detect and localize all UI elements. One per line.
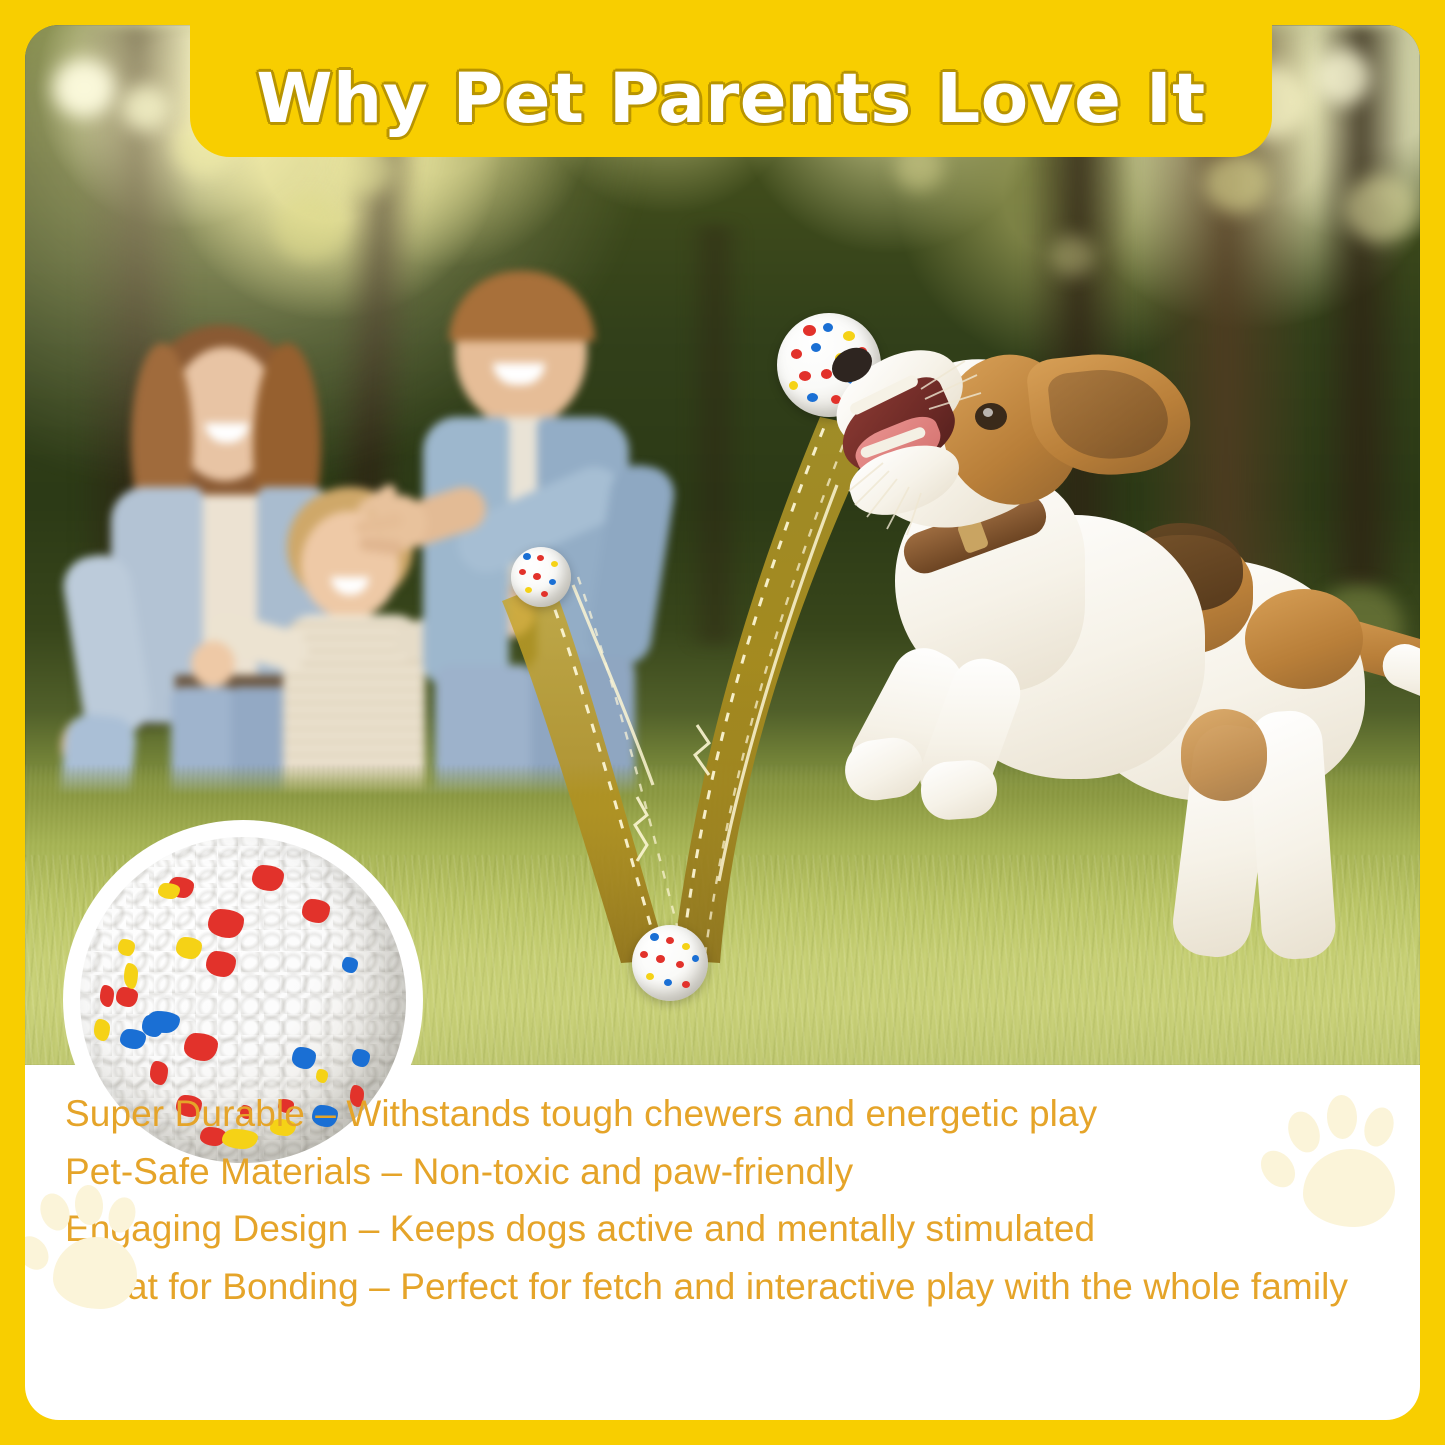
ball-in-air-mid bbox=[511, 547, 571, 607]
whiskers bbox=[825, 345, 1085, 565]
benefit-item: Super Durable – Withstands tough chewers… bbox=[65, 1085, 1382, 1143]
paw-print-watermark-left bbox=[25, 1189, 163, 1339]
jumping-dog bbox=[825, 325, 1420, 1065]
benefit-item: Engaging Design – Keeps dogs active and … bbox=[65, 1200, 1382, 1258]
benefit-item: Pet-Safe Materials – Non-toxic and paw-f… bbox=[65, 1143, 1382, 1201]
header-banner: Why Pet Parents Love It bbox=[190, 25, 1272, 157]
benefit-item: Great for Bonding – Perfect for fetch an… bbox=[65, 1258, 1382, 1316]
ball-bouncing-on-grass bbox=[632, 925, 708, 1001]
content-card: Why Pet Parents Love It Super Durable – … bbox=[25, 25, 1420, 1420]
outer-yellow-frame: Why Pet Parents Love It Super Durable – … bbox=[0, 0, 1445, 1445]
benefits-list: Super Durable – Withstands tough chewers… bbox=[25, 1085, 1420, 1315]
page-title: Why Pet Parents Love It bbox=[256, 59, 1205, 139]
paw-print-watermark-right bbox=[1259, 1093, 1420, 1261]
